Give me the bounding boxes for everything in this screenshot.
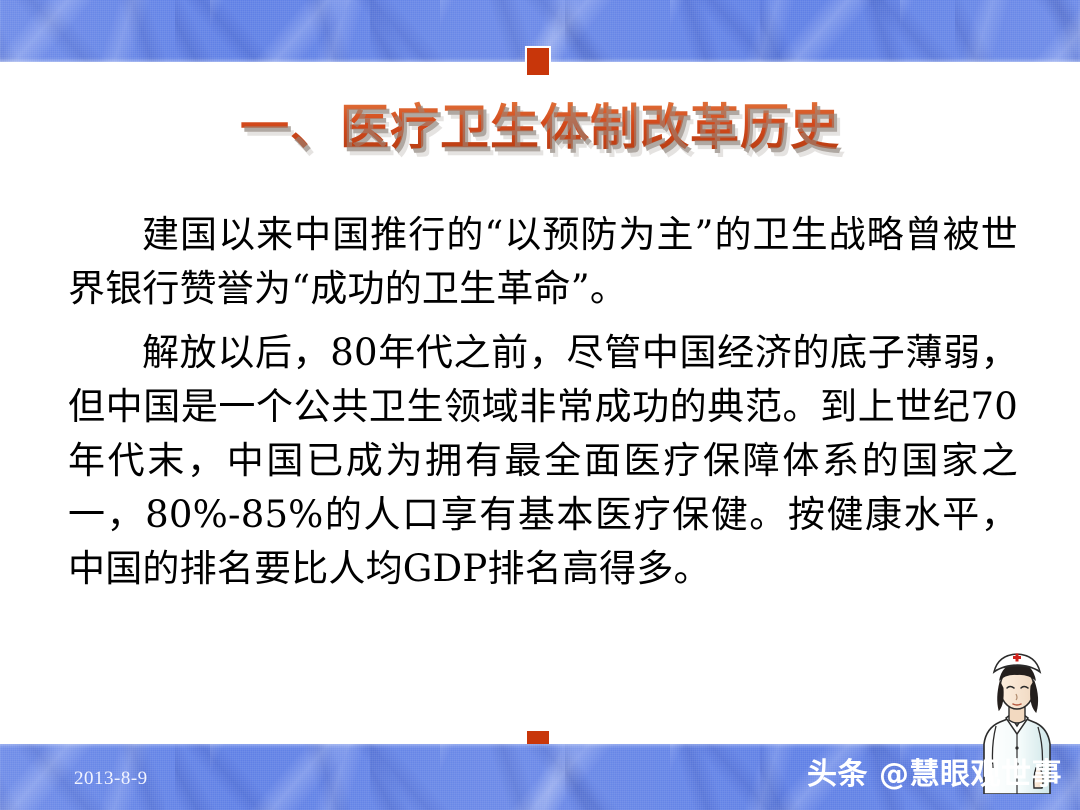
watermark-text: 头条 @慧眼观世事: [807, 757, 1062, 793]
body-paragraph: 解放以后，80年代之前，尽管中国经济的底子薄弱，但中国是一个公共卫生领域非常成功…: [68, 326, 1018, 596]
slide-title: 一、医疗卫生体制改革历史: [0, 98, 1080, 158]
top-red-square-marker: [525, 46, 551, 77]
footer-date: 2013-8-9: [74, 768, 148, 790]
body-paragraph: 建国以来中国推行的“以预防为主”的卫生战略曾被世界银行赞誉为“成功的卫生革命”。: [68, 208, 1018, 316]
presentation-slide: 一、医疗卫生体制改革历史 建国以来中国推行的“以预防为主”的卫生战略曾被世界银行…: [0, 0, 1080, 810]
slide-body: 建国以来中国推行的“以预防为主”的卫生战略曾被世界银行赞誉为“成功的卫生革命”。…: [68, 208, 1018, 600]
